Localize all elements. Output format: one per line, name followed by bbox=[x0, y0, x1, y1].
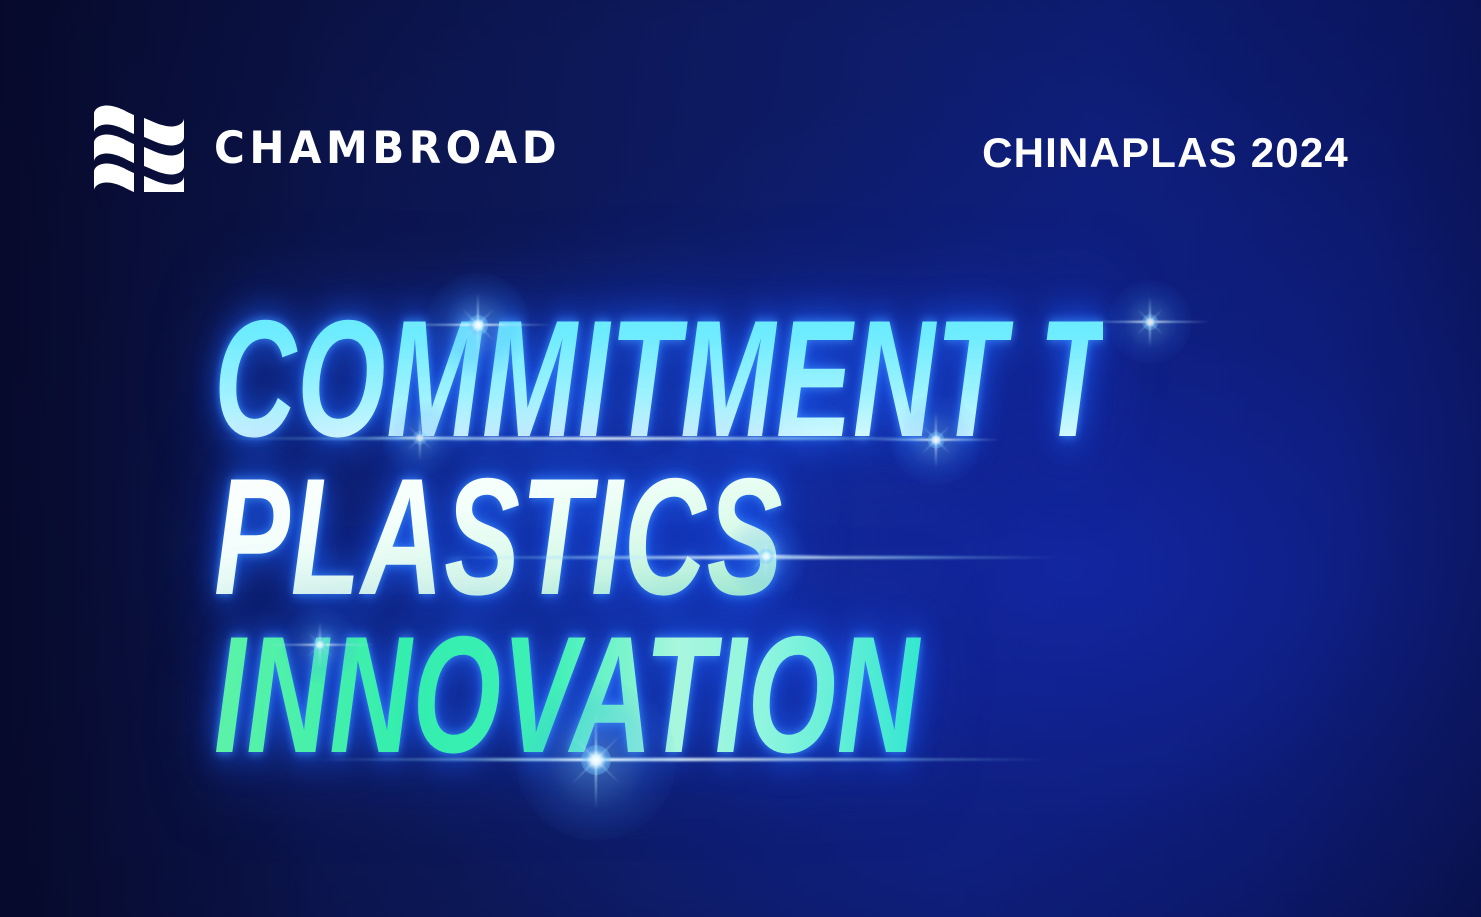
headline-line-1: COMMITMENT TO bbox=[214, 289, 1103, 469]
event-title: CHINAPLAS 2024 bbox=[982, 132, 1349, 174]
headline-line-2: PLASTICS bbox=[214, 447, 1103, 627]
headline-line-3: INNOVATION bbox=[214, 605, 1103, 785]
headline-block: COMMITMENT TO PLASTICS INNOVATION bbox=[214, 300, 1354, 774]
brand-lockup[interactable]: CHAMBROAD bbox=[92, 104, 561, 192]
promo-banner: CHAMBROAD CHINAPLAS 2024 COMMITMENT TO P… bbox=[0, 0, 1481, 917]
chambroad-wave-logo-icon bbox=[92, 104, 188, 192]
brand-wordmark: CHAMBROAD bbox=[214, 126, 561, 171]
